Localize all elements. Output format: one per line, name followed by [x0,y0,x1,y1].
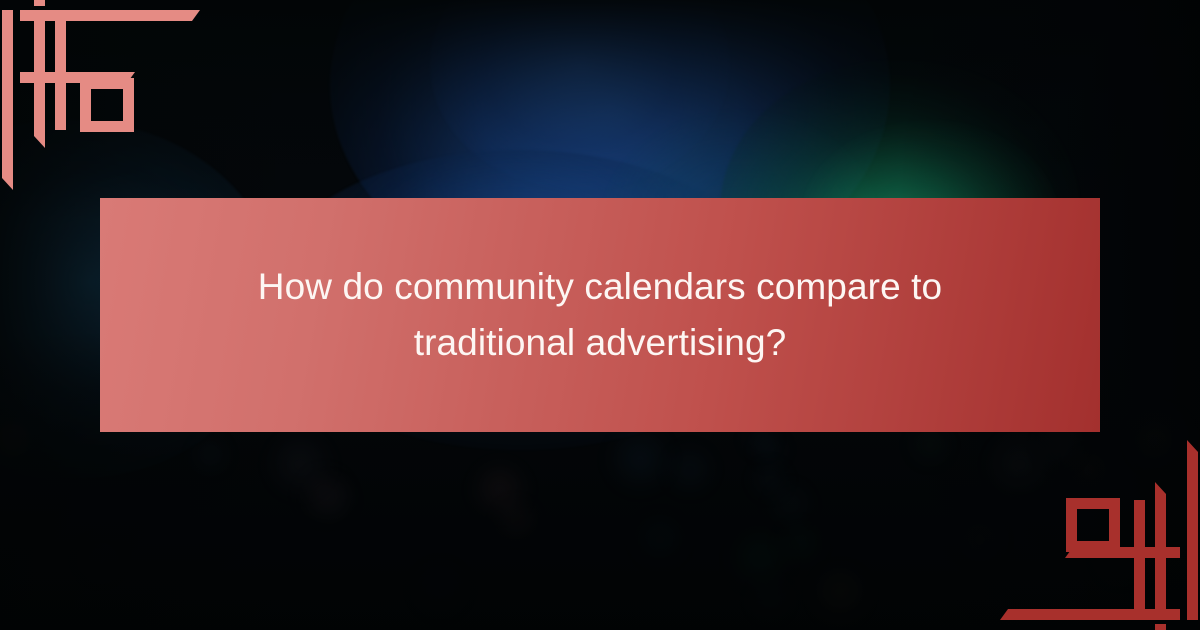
banner-headline: How do community calendars compare to tr… [230,259,970,371]
question-banner: How do community calendars compare to tr… [100,198,1100,432]
social-card-poster: How do community calendars compare to tr… [0,0,1200,630]
